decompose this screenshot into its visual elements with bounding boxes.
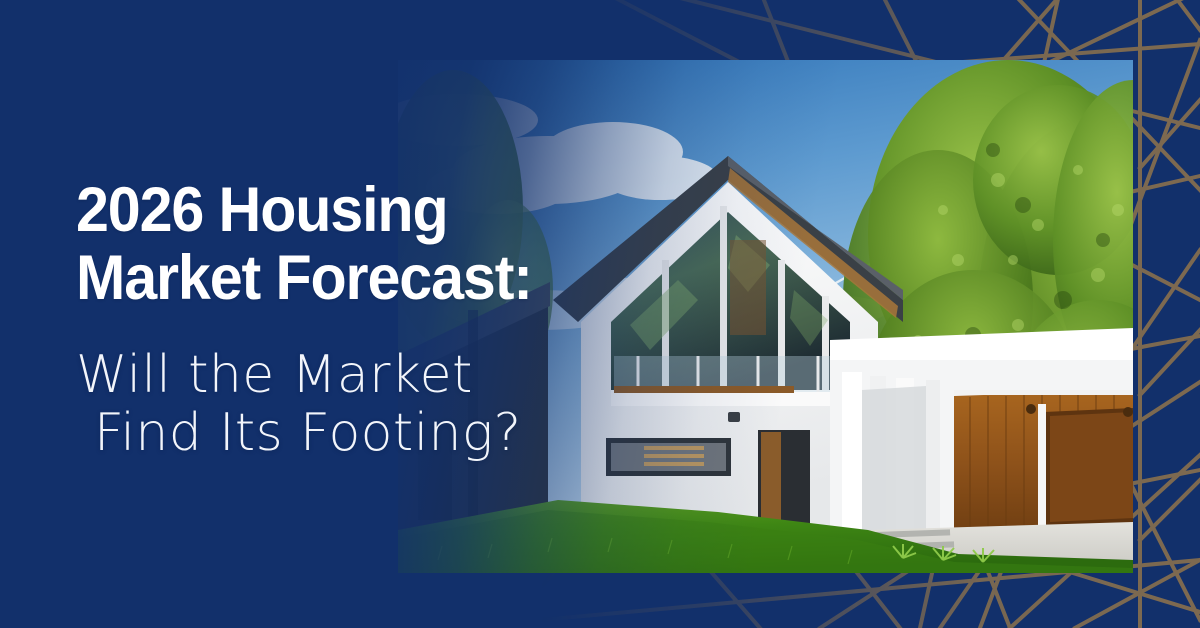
- headline-line-1: 2026 Housing: [76, 176, 659, 244]
- social-banner: 2026 Housing Market Forecast: Will the M…: [0, 0, 1200, 628]
- headline-block: 2026 Housing Market Forecast: Will the M…: [76, 176, 696, 462]
- subtitle-line-1: Will the Market: [76, 346, 696, 404]
- subtitle-line-2: Find Its Footing?: [76, 404, 696, 462]
- headline-line-2: Market Forecast:: [76, 244, 659, 312]
